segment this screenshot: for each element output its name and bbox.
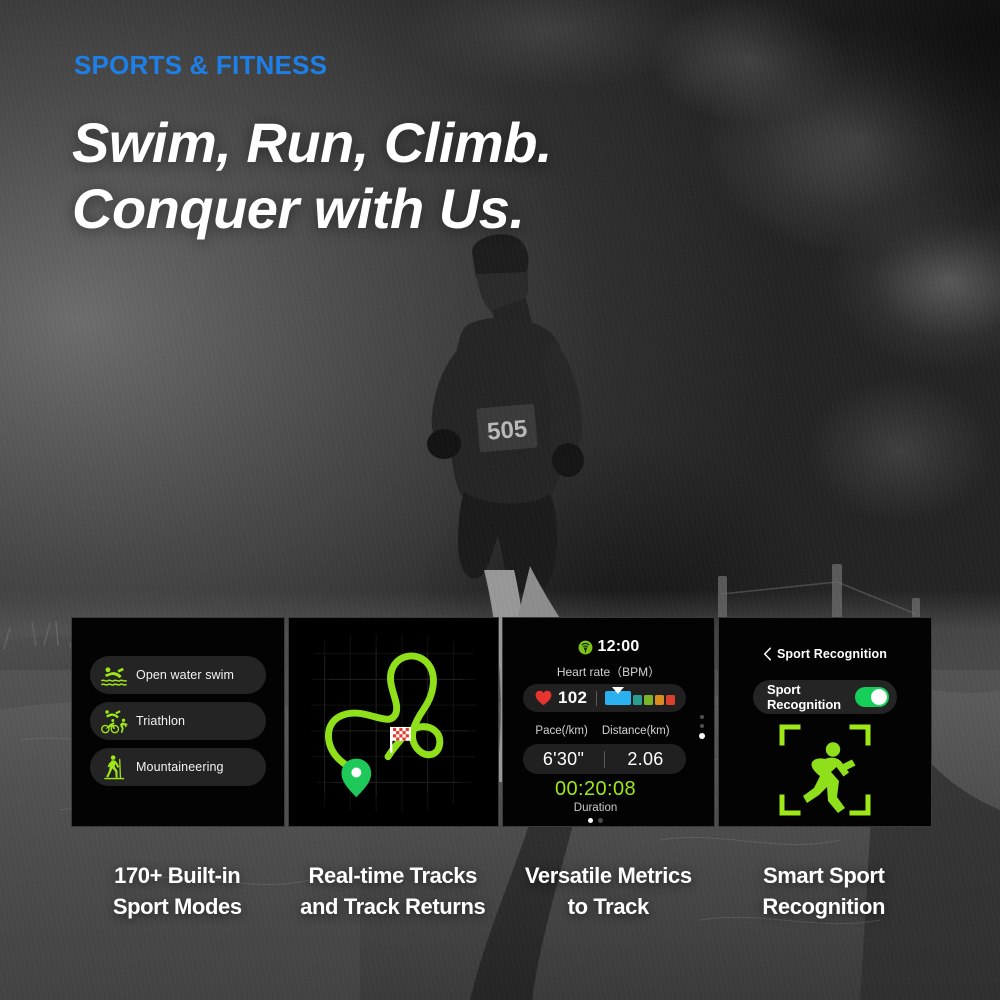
headline-line-1: Swim, Run, Climb. — [72, 110, 552, 176]
settings-header: Sport Recognition — [719, 647, 931, 661]
caption-line-1: Smart Sport — [718, 860, 931, 891]
pace-label: Pace(/km) — [535, 725, 587, 737]
hr-zone-marker — [612, 687, 624, 694]
settings-header-title: Sport Recognition — [777, 647, 887, 661]
hr-zone-4 — [655, 695, 664, 705]
running-person-scan-icon — [779, 724, 871, 816]
distance-label: Distance(km) — [602, 725, 670, 737]
caption-line-1: Versatile Metrics — [502, 860, 715, 891]
distance-value: 2.06 — [605, 749, 686, 770]
toggle-label: Sport Recognition — [767, 682, 855, 712]
headline-line-2: Conquer with Us. — [72, 176, 552, 242]
sport-mode-label: Open water swim — [136, 668, 234, 682]
card-real-time-track — [288, 617, 499, 827]
heart-rate-row[interactable]: 102 — [523, 684, 686, 712]
heart-rate-value: 102 — [558, 688, 587, 708]
scroll-dot — [700, 724, 704, 728]
caption-line-2: to Track — [502, 891, 715, 922]
heart-rate-label: Heart rate（BPM） — [503, 663, 714, 680]
hr-zone-5 — [666, 695, 675, 705]
feature-captions: 170+ Built-in Sport Modes Real-time Trac… — [71, 860, 930, 930]
scroll-dot — [699, 733, 705, 739]
heart-rate-zone-bar — [605, 691, 675, 705]
page-dot — [588, 818, 593, 823]
card-versatile-metrics: 12:00 Heart rate（BPM） 102 — [502, 617, 715, 827]
feature-card-strip: Open water swim — [71, 617, 930, 827]
sport-recognition-toggle-row[interactable]: Sport Recognition — [753, 680, 897, 714]
runner-glyph — [803, 742, 856, 813]
caption-line-2: and Track Returns — [287, 891, 500, 922]
open-water-swim-icon — [100, 662, 128, 688]
promo-page: 505 SPORTS & FITNESS — [0, 0, 1000, 1000]
card-smart-sport-recognition: Sport Recognition Sport Recognition — [718, 617, 932, 827]
caption-smart-recognition: Smart Sport Recognition — [718, 860, 931, 930]
card-sport-modes: Open water swim — [71, 617, 285, 827]
watch-status-bar: 12:00 — [503, 638, 714, 656]
scroll-indicator[interactable] — [699, 715, 705, 739]
sport-mode-item-open-water-swim[interactable]: Open water swim — [90, 656, 266, 694]
triathlon-icon — [100, 708, 128, 734]
pace-distance-labels: Pace(/km) Distance(km) — [517, 725, 688, 737]
caption-line-2: Recognition — [718, 891, 931, 922]
caption-sport-modes: 170+ Built-in Sport Modes — [71, 860, 284, 930]
page-dot — [598, 818, 603, 823]
hr-zone-3 — [644, 695, 653, 705]
caption-line-1: Real-time Tracks — [287, 860, 500, 891]
watch-time: 12:00 — [598, 638, 640, 656]
pace-value: 6'30" — [523, 749, 604, 770]
sport-mode-label: Triathlon — [136, 714, 185, 728]
sport-recognition-switch[interactable] — [855, 687, 889, 707]
heart-icon — [535, 690, 552, 706]
hr-zone-1 — [605, 691, 631, 705]
sport-mode-item-triathlon[interactable]: Triathlon — [90, 702, 266, 740]
caption-line-1: 170+ Built-in — [71, 860, 284, 891]
route-path — [328, 656, 439, 772]
duration-value: 00:20:08 — [503, 778, 688, 801]
scroll-dot — [700, 715, 704, 719]
hr-zone-2 — [633, 695, 642, 705]
mountaineering-icon — [100, 754, 128, 780]
eyebrow-label: SPORTS & FITNESS — [74, 50, 327, 81]
location-pin-icon — [341, 759, 371, 798]
track-map-canvas — [289, 618, 498, 826]
gps-signal-icon — [578, 640, 593, 655]
pace-distance-row[interactable]: 6'30" 2.06 — [523, 744, 686, 774]
caption-versatile-metrics: Versatile Metrics to Track — [502, 860, 715, 930]
caption-line-2: Sport Modes — [71, 891, 284, 922]
duration-label: Duration — [503, 802, 688, 814]
page-title: Swim, Run, Climb. Conquer with Us. — [72, 110, 552, 242]
sport-mode-list: Open water swim — [90, 656, 266, 786]
sport-mode-item-mountaineering[interactable]: Mountaineering — [90, 748, 266, 786]
chevron-left-icon[interactable] — [763, 647, 772, 661]
track-map[interactable] — [289, 618, 498, 826]
page-indicator-dots[interactable] — [503, 818, 688, 823]
recognition-illustration — [719, 724, 931, 816]
divider — [596, 691, 597, 706]
caption-real-time-track: Real-time Tracks and Track Returns — [287, 860, 500, 930]
sport-mode-label: Mountaineering — [136, 760, 224, 774]
